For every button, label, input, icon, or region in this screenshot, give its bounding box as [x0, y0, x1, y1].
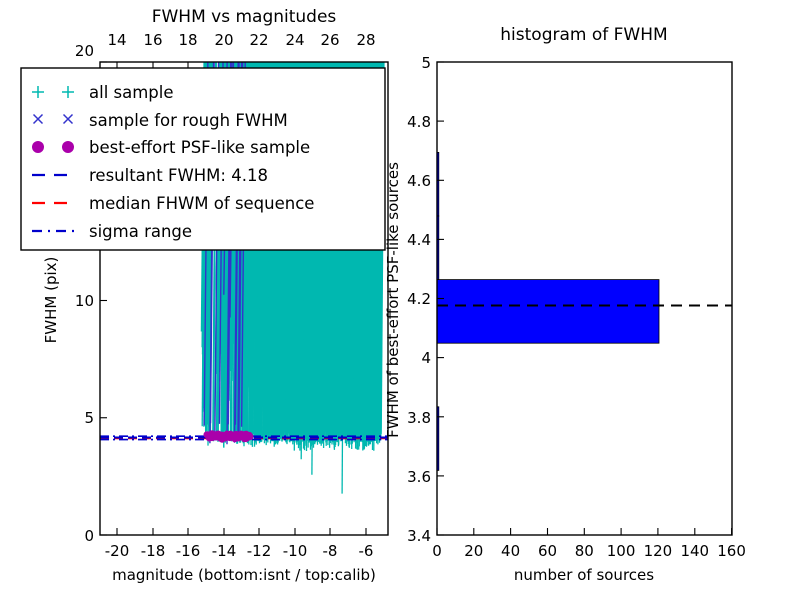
- scatter-xlabel: magnitude (bottom:isnt / top:calib): [112, 566, 376, 584]
- x-tick--6: -6: [359, 542, 374, 560]
- hist-y-tick-3-8: 3.8: [407, 409, 431, 427]
- x-tick--8: -8: [323, 542, 338, 560]
- top-tick-20: 20: [214, 31, 233, 49]
- histogram-x-tick-labels: 0 20 40 60 80 100 120 140 160: [432, 542, 746, 560]
- scatter-ylabel: FWHM (pix): [42, 257, 60, 344]
- hist-x-tick-140: 140: [680, 542, 709, 560]
- legend-label-resultant-fwhm: resultant FWHM: 4.18: [89, 166, 268, 185]
- hist-x-tick-0: 0: [432, 542, 442, 560]
- legend-label-psf-like: best-effort PSF-like sample: [89, 138, 310, 157]
- hist-y-tick-3-6: 3.6: [407, 468, 431, 486]
- legend-label-rough-fwhm: sample for rough FWHM: [89, 111, 288, 130]
- hist-y-tick-4-4: 4.4: [407, 231, 431, 249]
- hist-y-tick-3-4: 3.4: [407, 527, 431, 545]
- hist-x-tick-80: 80: [575, 542, 594, 560]
- hist-y-tick-4-0: 4: [421, 349, 431, 367]
- y-tick-0: 0: [84, 527, 94, 545]
- top-tick-16: 16: [143, 31, 162, 49]
- hist-y-tick-4-2: 4.2: [407, 290, 431, 308]
- hist-x-tick-60: 60: [538, 542, 557, 560]
- y-tick-20: 20: [75, 42, 94, 60]
- top-tick-18: 18: [178, 31, 197, 49]
- legend-box: [21, 68, 385, 250]
- hist-x-tick-20: 20: [464, 542, 483, 560]
- top-tick-26: 26: [320, 31, 339, 49]
- legend-label-median-fhwm: median FHWM of sequence: [89, 194, 314, 213]
- figure-canvas: FWHM vs magnitudes 14 16 18 20 22 24 26 …: [0, 0, 800, 600]
- y-tick-10: 10: [75, 292, 94, 310]
- top-tick-22: 22: [249, 31, 268, 49]
- top-tick-28: 28: [356, 31, 375, 49]
- x-tick--18: -18: [141, 542, 166, 560]
- hist-y-tick-4-6: 4.6: [407, 172, 431, 190]
- hist-y-tick-4-8: 4.8: [407, 113, 431, 131]
- histogram-bar: [437, 280, 659, 344]
- histogram-xlabel: number of sources: [514, 566, 654, 584]
- x-tick--12: -12: [247, 542, 272, 560]
- scatter-legend: all sample sample for rough FWHM best-ef…: [21, 68, 385, 250]
- x-tick--20: -20: [105, 542, 130, 560]
- x-tick--14: -14: [212, 542, 237, 560]
- hist-y-tick-5-0: 5: [421, 54, 431, 72]
- legend-label-sigma-range: sigma range: [89, 222, 192, 241]
- matplotlib-figure: FWHM vs magnitudes 14 16 18 20 22 24 26 …: [0, 0, 800, 600]
- scatter-title: FWHM vs magnitudes: [152, 7, 337, 27]
- histogram-y-tick-labels: 3.4 3.6 3.8 4 4.2 4.4 4.6 4.8 5: [407, 54, 431, 545]
- y-tick-5: 5: [84, 409, 94, 427]
- x-tick--10: -10: [283, 542, 308, 560]
- hist-x-tick-40: 40: [501, 542, 520, 560]
- hist-x-tick-100: 100: [607, 542, 636, 560]
- legend-label-all-sample: all sample: [89, 83, 174, 102]
- x-tick--16: -16: [176, 542, 201, 560]
- top-tick-14: 14: [107, 31, 126, 49]
- histogram-title: histogram of FWHM: [500, 25, 667, 45]
- hist-x-tick-120: 120: [644, 542, 673, 560]
- histogram-ylabel: FWHM of best-effort PSF-like sources: [384, 162, 402, 438]
- top-tick-24: 24: [285, 31, 304, 49]
- hist-x-tick-160: 160: [717, 542, 746, 560]
